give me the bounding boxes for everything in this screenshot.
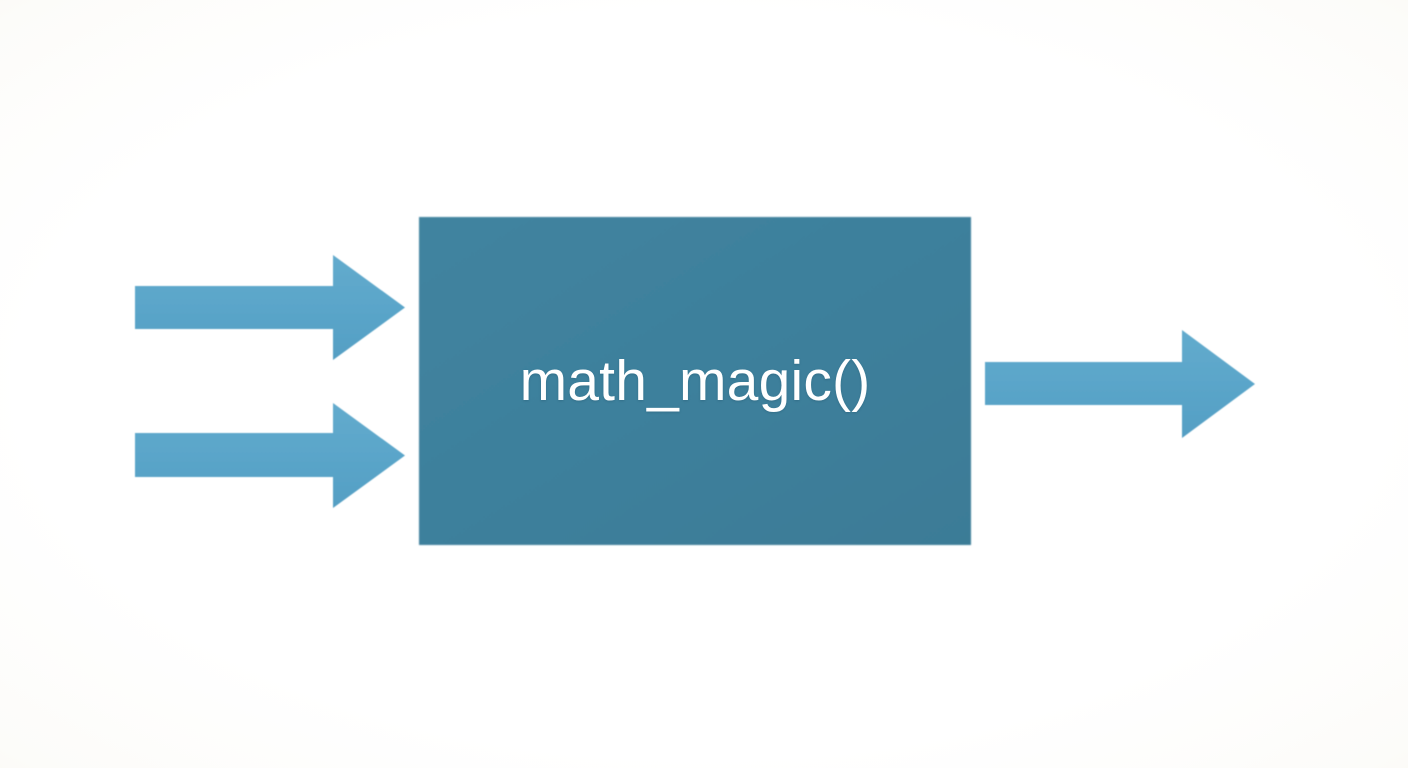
- input-arrow-bottom-icon: [135, 403, 405, 508]
- diagram-graphics: [0, 0, 1408, 768]
- input-arrow-top-icon: [135, 255, 405, 360]
- diagram-canvas: math_magic(): [0, 0, 1408, 768]
- process-block-shape: [419, 217, 971, 545]
- output-arrow-icon: [985, 330, 1255, 438]
